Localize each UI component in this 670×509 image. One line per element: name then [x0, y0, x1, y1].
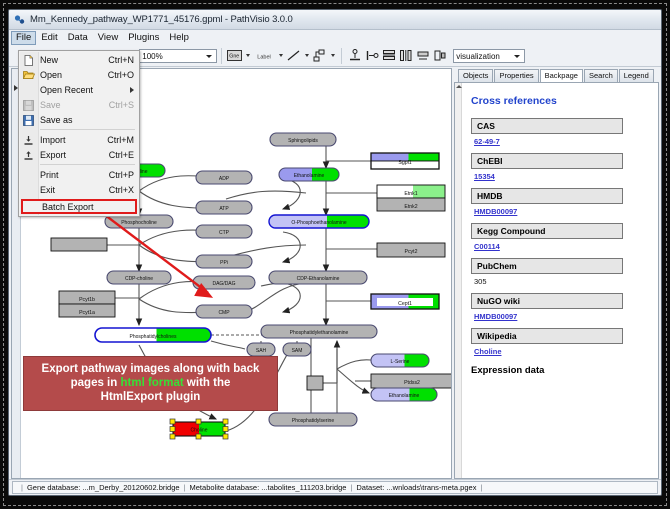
svg-text:Etnk1: Etnk1 [404, 191, 417, 197]
menu-item-open[interactable]: Open Ctrl+O [19, 67, 139, 82]
xref-name-pubchem: PubChem [471, 258, 623, 274]
xref-value-kegg[interactable]: C00114 [471, 239, 649, 251]
menu-divider-2 [40, 164, 135, 165]
menu-plugins[interactable]: Plugins [123, 31, 164, 45]
xref-value-hmdb[interactable]: HMDB00097 [471, 204, 649, 216]
status-gene-database: Gene database: ...m_Derby_20120602.bridg… [27, 483, 180, 492]
svg-text:SAH: SAH [256, 348, 267, 354]
xref-value-wikipedia[interactable]: Choline [471, 344, 649, 356]
menu-item-save: Save Ctrl+S [19, 97, 139, 112]
xref-name-cas: CAS [471, 118, 623, 134]
menu-item-open-shortcut: Ctrl+O [108, 70, 134, 80]
svg-text:L-Serine: L-Serine [391, 359, 410, 365]
svg-text:CMP: CMP [218, 310, 230, 316]
backpage-content: Cross references CAS 62-49-7 ChEBI 15354… [462, 83, 658, 478]
xref-value-pubchem: 305 [471, 274, 649, 286]
menu-view[interactable]: View [93, 31, 123, 45]
svg-text:Sphingolipids: Sphingolipids [288, 138, 318, 144]
svg-text:Etnk2: Etnk2 [404, 204, 417, 210]
menu-item-new[interactable]: New Ctrl+N [19, 52, 139, 67]
toolbar-separator-2 [341, 48, 342, 64]
save-as-icon [22, 114, 35, 126]
menu-item-exit-shortcut: Ctrl+X [109, 185, 134, 195]
callout-highlight: html format [120, 377, 183, 389]
xref-name-wikipedia: Wikipedia [471, 328, 623, 344]
menu-item-save-as-label: Save as [40, 115, 134, 125]
svg-text:O-Phosphoethanolamine: O-Phosphoethanolamine [291, 220, 347, 226]
menu-item-import[interactable]: Import Ctrl+M [19, 132, 139, 147]
xref-name-nugo: NuGO wiki [471, 293, 623, 309]
chevron-down-icon-2[interactable] [511, 50, 522, 62]
svg-text:Sgpl1: Sgpl1 [398, 160, 411, 166]
tab-objects[interactable]: Objects [458, 69, 493, 82]
menu-item-new-label: New [40, 55, 108, 65]
file-menu-dropdown[interactable]: New Ctrl+N Open Ctrl+O Open Recent [18, 50, 140, 217]
xref-value-cas[interactable]: 62-49-7 [471, 134, 649, 146]
line-dropdown-arrow[interactable] [302, 47, 311, 64]
align-top-icon[interactable] [346, 47, 363, 64]
callout-line3: HtmlExport plugin [101, 391, 201, 403]
align-rows-icon[interactable] [380, 47, 397, 64]
status-sep-3: | [480, 483, 482, 492]
xref-value-nugo[interactable]: HMDB00097 [471, 309, 649, 321]
menu-item-print[interactable]: Print Ctrl+P [19, 167, 139, 182]
xref-name-hmdb: HMDB [471, 188, 623, 204]
menu-divider-1 [40, 129, 135, 130]
xref-cas: CAS 62-49-7 [471, 118, 649, 146]
menu-item-import-shortcut: Ctrl+M [107, 135, 134, 145]
folder-open-icon [22, 69, 35, 81]
xref-hmdb: HMDB HMDB00097 [471, 188, 649, 216]
callout-line1: Export pathway images along with back [42, 363, 260, 375]
window-title: Mm_Kennedy_pathway_WP1771_45176.gpml - P… [30, 14, 293, 25]
datanode-dropdown-arrow[interactable] [243, 47, 252, 64]
application-window: Mm_Kennedy_pathway_WP1771_45176.gpml - P… [8, 9, 662, 496]
svg-text:Pcyt2: Pcyt2 [405, 249, 418, 255]
svg-text:Cept1: Cept1 [398, 301, 412, 307]
svg-text:Phosphocholine: Phosphocholine [121, 220, 157, 226]
menu-file[interactable]: File [11, 31, 36, 45]
menu-data[interactable]: Data [63, 31, 93, 45]
panel-body: Cross references CAS 62-49-7 ChEBI 15354… [454, 82, 659, 479]
zoom-combo[interactable]: 100% [139, 49, 217, 63]
svg-text:Phosphatidylserine: Phosphatidylserine [292, 418, 334, 424]
svg-text:Ethanolamine: Ethanolamine [294, 173, 325, 179]
cross-references-heading: Cross references [471, 95, 649, 107]
label-icon[interactable]: Label [252, 47, 276, 64]
title-bar: Mm_Kennedy_pathway_WP1771_45176.gpml - P… [9, 10, 661, 30]
xref-name-kegg: Kegg Compound [471, 223, 623, 239]
status-metabolite-database: Metabolite database: ...tabolites_111203… [190, 483, 347, 492]
stack-icon[interactable] [414, 47, 431, 64]
menu-item-exit-label: Exit [40, 185, 109, 195]
xref-nugo: NuGO wiki HMDB00097 [471, 293, 649, 321]
menu-item-save-as[interactable]: Save as [19, 112, 139, 127]
svg-text:Pcyt1a: Pcyt1a [79, 310, 95, 316]
menu-item-export-label: Export [40, 150, 109, 160]
menu-item-import-label: Import [40, 135, 107, 145]
chevron-down-icon[interactable] [203, 50, 214, 62]
menu-item-new-shortcut: Ctrl+N [108, 55, 134, 65]
menu-help[interactable]: Help [164, 31, 194, 45]
datanode-icon[interactable]: Gne [226, 47, 243, 64]
svg-text:CDP-Ethanolamine: CDP-Ethanolamine [297, 276, 340, 282]
menu-item-print-shortcut: Ctrl+P [109, 170, 134, 180]
svg-text:CDP-choline: CDP-choline [125, 276, 153, 282]
menu-item-exit[interactable]: Exit Ctrl+X [19, 182, 139, 197]
status-dataset: Dataset: ...wnloads\trans-meta.pgex [356, 483, 476, 492]
tab-legend[interactable]: Legend [619, 69, 654, 82]
xref-value-chebi[interactable]: 15354 [471, 169, 649, 181]
toolbar-separator [221, 48, 222, 64]
menu-item-open-recent[interactable]: Open Recent [19, 82, 139, 97]
side-panel: Objects Properties Backpage Search Legen… [454, 68, 659, 479]
menu-item-save-shortcut: Ctrl+S [109, 100, 134, 110]
menu-item-open-recent-label: Open Recent [40, 85, 130, 95]
callout-line2-pre: pages in [71, 377, 121, 389]
svg-text:Pcyt1b: Pcyt1b [79, 297, 95, 303]
menu-item-export-shortcut: Ctrl+E [109, 150, 134, 160]
visualization-value: visualization [456, 52, 511, 61]
group-icon[interactable] [431, 47, 448, 64]
expression-data-heading: Expression data [471, 365, 649, 376]
svg-text:Ptdss2: Ptdss2 [404, 380, 420, 386]
interaction-dropdown-arrow[interactable] [328, 47, 337, 64]
annotation-callout: Export pathway images along with back pa… [23, 356, 278, 411]
align-left-icon[interactable] [363, 47, 380, 64]
status-text: | Gene database: ...m_Derby_20120602.bri… [12, 481, 658, 494]
svg-text:Phosphatidylcholines: Phosphatidylcholines [130, 334, 177, 340]
tab-search[interactable]: Search [584, 69, 618, 82]
xref-chebi: ChEBI 15354 [471, 153, 649, 181]
svg-text:Gne: Gne [230, 54, 240, 60]
panel-gutter[interactable] [455, 83, 462, 478]
status-sep-1: | [184, 483, 186, 492]
tab-properties[interactable]: Properties [494, 69, 538, 82]
xref-kegg: Kegg Compound C00114 [471, 223, 649, 251]
import-icon [22, 134, 35, 146]
outer-frame: Mm_Kennedy_pathway_WP1771_45176.gpml - P… [0, 0, 670, 509]
line-icon[interactable] [285, 47, 302, 64]
menu-item-open-label: Open [40, 70, 108, 80]
callout-line2-post: with the [184, 377, 231, 389]
save-icon [22, 99, 35, 111]
svg-text:Choline: Choline [191, 428, 208, 434]
xref-pubchem: PubChem 305 [471, 258, 649, 286]
menu-item-save-label: Save [40, 100, 109, 110]
svg-text:Ethanolamine: Ethanolamine [389, 393, 420, 399]
interaction-icon[interactable] [311, 47, 328, 64]
svg-text:CTP: CTP [219, 230, 230, 236]
pathvisio-icon [14, 14, 25, 25]
zoom-value: 100% [142, 52, 203, 61]
export-icon [22, 149, 35, 161]
label-dropdown-arrow[interactable] [276, 47, 285, 64]
new-file-icon [22, 54, 35, 66]
menu-edit[interactable]: Edit [36, 31, 62, 45]
tab-backpage[interactable]: Backpage [540, 69, 583, 83]
status-sep-0: | [21, 483, 23, 492]
submenu-arrow-icon [130, 87, 134, 93]
menu-item-print-label: Print [40, 170, 109, 180]
svg-text:DAG/DAG: DAG/DAG [212, 281, 235, 287]
status-bar: | Gene database: ...m_Derby_20120602.bri… [9, 479, 661, 495]
visualization-combo[interactable]: visualization [453, 49, 525, 63]
svg-text:SAM: SAM [292, 348, 303, 354]
svg-text:PPi: PPi [220, 260, 228, 266]
panel-tab-row: Objects Properties Backpage Search Legen… [454, 68, 659, 82]
svg-text:Phosphatidylethanolamine: Phosphatidylethanolamine [290, 330, 349, 336]
menu-bar: File Edit Data View Plugins Help [9, 30, 661, 45]
menu-item-batch-export[interactable]: Batch Export [21, 199, 137, 214]
xref-wikipedia: Wikipedia Choline [471, 328, 649, 356]
selected-choline-node: Choline [170, 419, 228, 439]
menu-item-batch-export-label: Batch Export [42, 202, 94, 212]
svg-text:ADP: ADP [219, 176, 230, 182]
status-sep-2: | [350, 483, 352, 492]
align-columns-icon[interactable] [397, 47, 414, 64]
svg-text:ATP: ATP [219, 206, 229, 212]
menu-item-export[interactable]: Export Ctrl+E [19, 147, 139, 162]
svg-text:Label: Label [257, 54, 270, 60]
xref-name-chebi: ChEBI [471, 153, 623, 169]
